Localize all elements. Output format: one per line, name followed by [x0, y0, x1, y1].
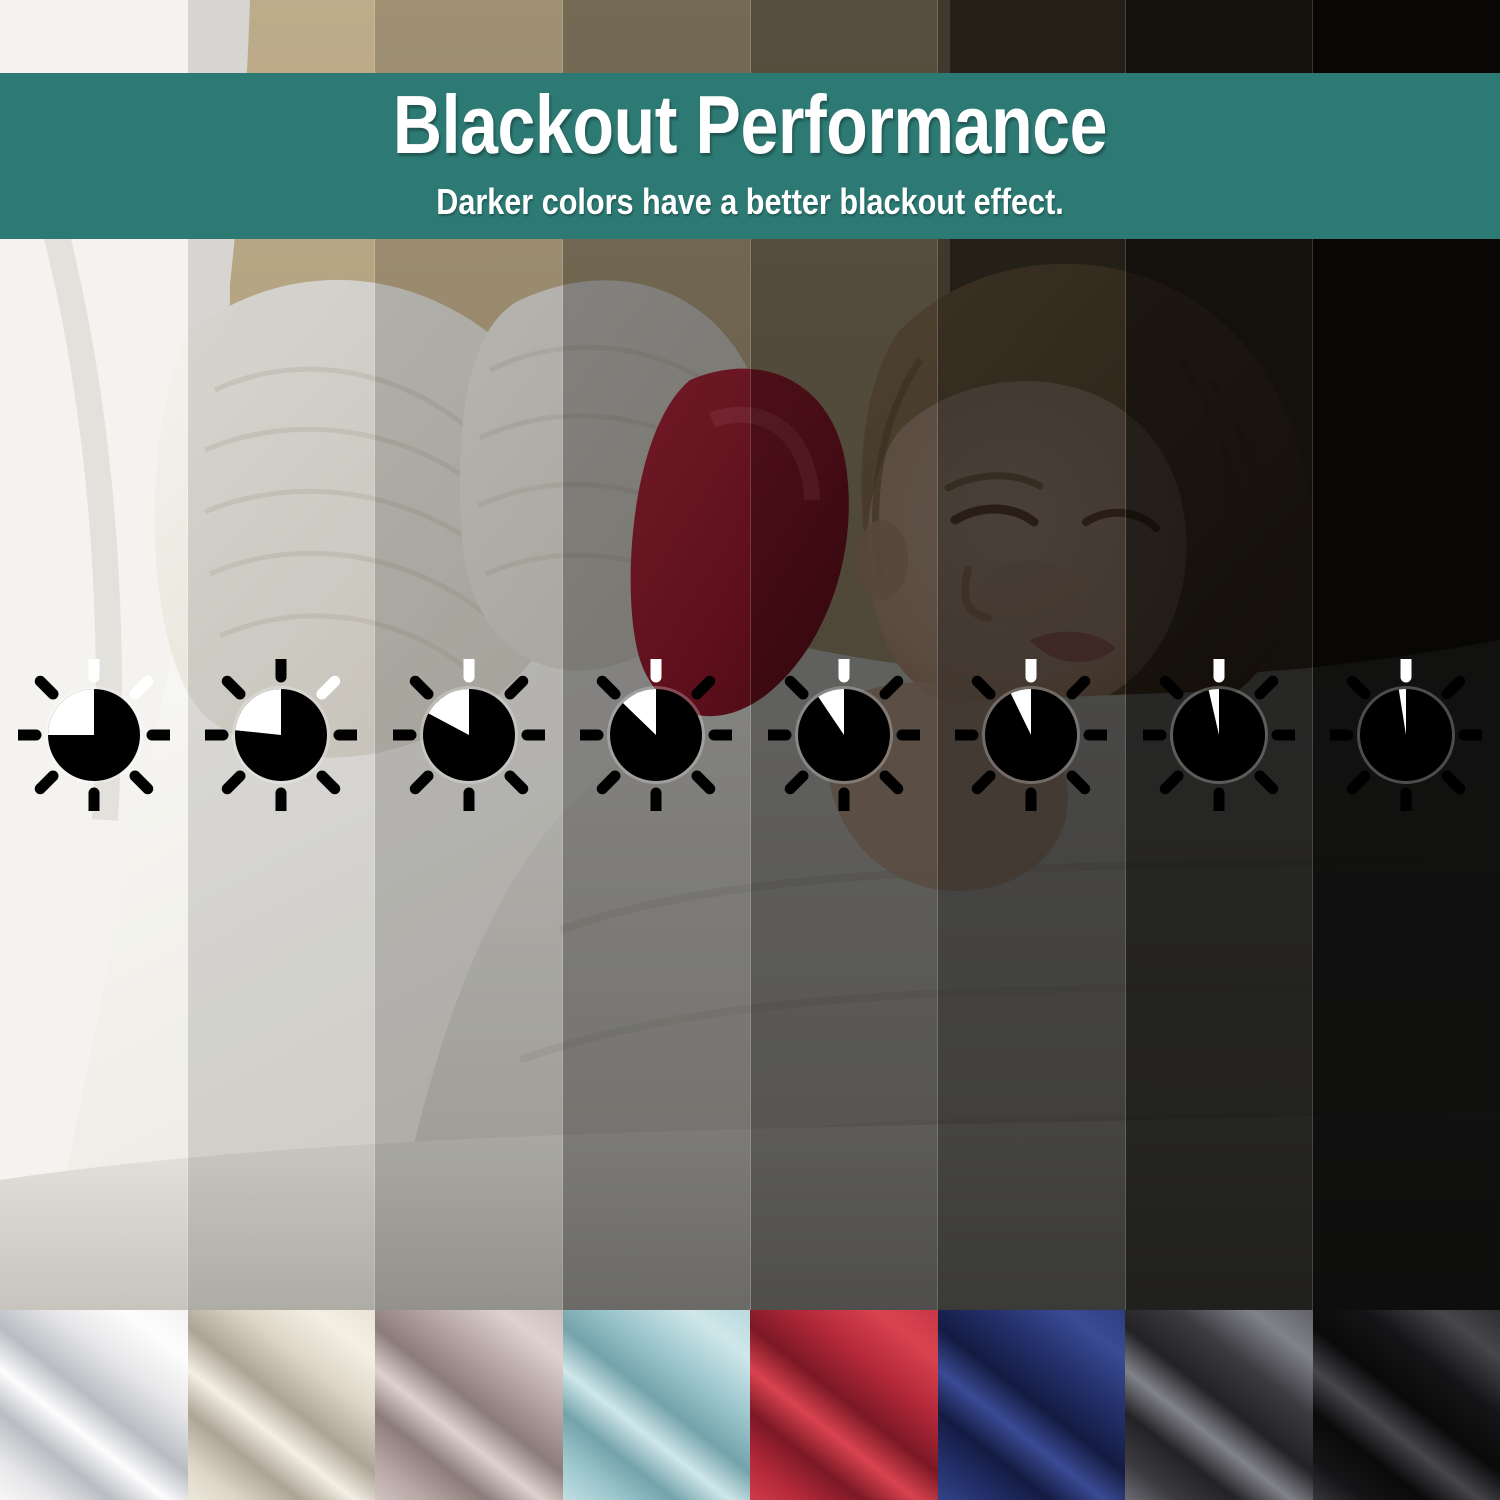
- fabric-swatch-taupe[interactable]: [375, 1310, 563, 1500]
- dial-ray-1: [322, 681, 335, 694]
- dial-ray-5: [603, 776, 616, 789]
- dial-ray-3: [697, 776, 710, 789]
- dial-ray-5: [978, 776, 991, 789]
- fabric-fold-sheen: [375, 1310, 563, 1500]
- dial-ray-3: [322, 776, 335, 789]
- product-infographic: Blackout Performance Darker colors have …: [0, 0, 1500, 1500]
- brightness-dial-icon: [955, 659, 1107, 811]
- dial-ray-7: [40, 681, 53, 694]
- brightness-indicator-row: [0, 655, 1500, 815]
- brightness-dial-icon: [205, 659, 357, 811]
- brightness-dial-icon: [1330, 659, 1482, 811]
- banner: Blackout Performance Darker colors have …: [0, 73, 1500, 239]
- brightness-dial-icon: [18, 659, 170, 811]
- dial-ray-3: [1260, 776, 1273, 789]
- dial-ray-7: [1353, 681, 1366, 694]
- dial-ray-1: [135, 681, 148, 694]
- sun-slot-navy: [938, 655, 1126, 815]
- fabric-fold-sheen: [188, 1310, 376, 1500]
- dial-ray-1: [1447, 681, 1460, 694]
- dial-ray-5: [1165, 776, 1178, 789]
- dial-ray-5: [40, 776, 53, 789]
- fabric-fold-sheen: [750, 1310, 938, 1500]
- dial-ray-7: [978, 681, 991, 694]
- sun-slot-white: [0, 655, 188, 815]
- dial-ray-7: [790, 681, 803, 694]
- fabric-fold-sheen: [938, 1310, 1126, 1500]
- dial-ray-3: [885, 776, 898, 789]
- fabric-swatch-navy[interactable]: [938, 1310, 1126, 1500]
- sun-slot-cream: [188, 655, 376, 815]
- dial-ray-7: [228, 681, 241, 694]
- dial-ray-5: [1353, 776, 1366, 789]
- dial-ray-1: [510, 681, 523, 694]
- brightness-dial-icon: [768, 659, 920, 811]
- sun-slot-grey: [1125, 655, 1313, 815]
- dial-ray-7: [1165, 681, 1178, 694]
- page-title: Blackout Performance: [135, 75, 1365, 175]
- fabric-fold-sheen: [0, 1310, 188, 1500]
- fabric-swatch-cream[interactable]: [188, 1310, 376, 1500]
- dial-ray-1: [1072, 681, 1085, 694]
- fabric-fold-sheen: [563, 1310, 751, 1500]
- brightness-dial-icon: [393, 659, 545, 811]
- sun-slot-red: [750, 655, 938, 815]
- sun-slot-light-blue: [563, 655, 751, 815]
- fabric-fold-sheen: [1125, 1310, 1313, 1500]
- dial-ray-3: [510, 776, 523, 789]
- brightness-dial-icon: [1143, 659, 1295, 811]
- dial-ray-1: [885, 681, 898, 694]
- sun-slot-taupe: [375, 655, 563, 815]
- dial-ray-5: [228, 776, 241, 789]
- dial-ray-3: [1072, 776, 1085, 789]
- dial-ray-3: [135, 776, 148, 789]
- dial-ray-1: [697, 681, 710, 694]
- fabric-swatch-strip: [0, 1310, 1500, 1500]
- fabric-swatch-red[interactable]: [750, 1310, 938, 1500]
- fabric-fold-sheen: [1313, 1310, 1500, 1500]
- dial-ray-7: [603, 681, 616, 694]
- dial-ray-3: [1447, 776, 1460, 789]
- banner-subtitle: Darker colors have a better blackout eff…: [113, 179, 1388, 225]
- dial-ray-7: [415, 681, 428, 694]
- brightness-dial-icon: [580, 659, 732, 811]
- dial-ray-1: [1260, 681, 1273, 694]
- sun-slot-black: [1313, 655, 1500, 815]
- fabric-swatch-white[interactable]: [0, 1310, 188, 1500]
- fabric-swatch-black[interactable]: [1313, 1310, 1500, 1500]
- dial-ray-5: [790, 776, 803, 789]
- fabric-swatch-grey[interactable]: [1125, 1310, 1313, 1500]
- fabric-swatch-light-blue[interactable]: [563, 1310, 751, 1500]
- dial-ray-5: [415, 776, 428, 789]
